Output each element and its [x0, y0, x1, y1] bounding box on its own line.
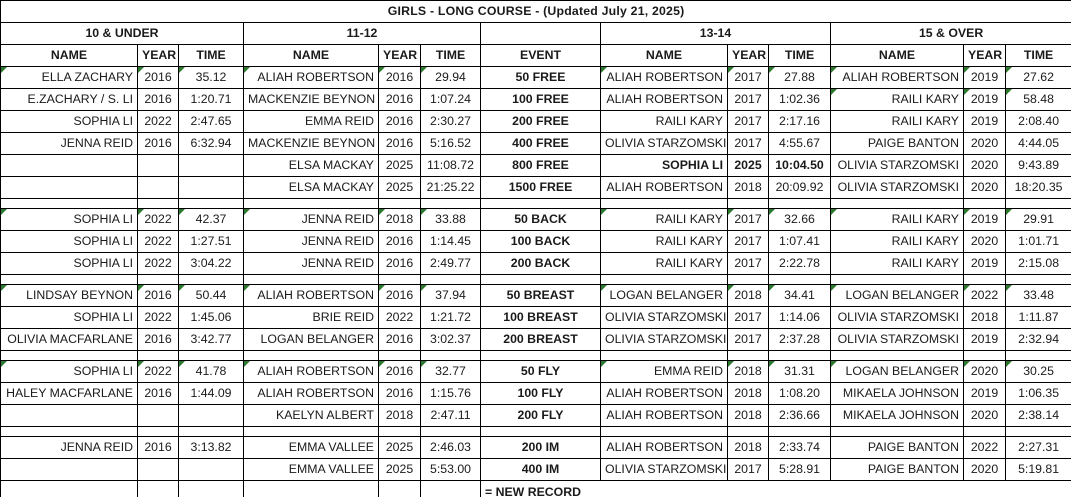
spacer-cell — [769, 275, 831, 285]
table-row: SOPHIA LI20222:47.65EMMA REID20162:30.27… — [1, 111, 1071, 133]
cell-year-a1112: 2016 — [379, 231, 421, 253]
spacer-cell — [138, 351, 179, 361]
cell-time-u10: 1:45.06 — [179, 307, 244, 329]
comment-indicator-icon — [421, 67, 427, 73]
table-row: ELLA ZACHARY201635.12ALIAH ROBERTSON2016… — [1, 67, 1071, 89]
cell-name-u10: LINDSAY BEYNON — [1, 285, 138, 307]
comment-indicator-icon — [138, 67, 144, 73]
legend-row: = NEW RECORD — [1, 481, 1071, 497]
cell-year-a1112: 2025 — [379, 437, 421, 459]
spacer-cell — [831, 199, 964, 209]
spacer-cell — [244, 351, 379, 361]
cell-year-a15: 2018 — [964, 307, 1006, 329]
spacer-cell — [1006, 199, 1071, 209]
cell-year-a15: 2020 — [964, 231, 1006, 253]
title-row: GIRLS - LONG COURSE - (Updated July 21, … — [1, 1, 1071, 23]
cell-year-a1112: 2016 — [379, 329, 421, 351]
cell-name-a1112: KAELYN ALBERT — [244, 405, 379, 427]
cell-year-u10: 2016 — [138, 89, 179, 111]
age-group-11-12: 11-12 — [244, 23, 481, 45]
comment-indicator-icon — [1, 285, 7, 291]
cell-year-a1112: 2016 — [379, 383, 421, 405]
cell-time-a1314: 32.66 — [769, 209, 831, 231]
cell-time-a1314: 2:37.28 — [769, 329, 831, 351]
comment-indicator-icon — [379, 67, 385, 73]
cell-event: 50 FREE — [481, 67, 601, 89]
spacer-cell — [138, 275, 179, 285]
cell-year-u10 — [138, 405, 179, 427]
cell-name-a1314: ALIAH ROBERTSON — [601, 437, 728, 459]
table-row: JENNA REID20166:32.94MACKENZIE BEYNON201… — [1, 133, 1071, 155]
table-row: EMMA VALLEE20255:53.00400 IMOLIVIA STARZ… — [1, 459, 1071, 481]
comment-indicator-icon — [244, 209, 250, 215]
cell-name-a15: RAILI KARY — [831, 209, 964, 231]
spacer-cell — [421, 275, 481, 285]
cell-year-a15: 2020 — [964, 459, 1006, 481]
cell-year-a1112: 2025 — [379, 155, 421, 177]
records-table: GIRLS - LONG COURSE - (Updated July 21, … — [0, 0, 1071, 497]
cell-name-a1314: ALIAH ROBERTSON — [601, 67, 728, 89]
cell-name-a15: PAIGE BANTON — [831, 459, 964, 481]
spacer-cell — [964, 199, 1006, 209]
spacer-cell — [728, 427, 769, 437]
cell-name-a15: RAILI KARY — [831, 253, 964, 275]
cell-year-u10: 2022 — [138, 111, 179, 133]
cell-event: 400 IM — [481, 459, 601, 481]
colhead-name-10u: NAME — [1, 45, 138, 67]
cell-year-a1112: 2022 — [379, 307, 421, 329]
table-row: SOPHIA LI202242.37JENNA REID201833.8850 … — [1, 209, 1071, 231]
spacer-cell — [379, 275, 421, 285]
spacer-cell — [138, 199, 179, 209]
cell-time-a1314: 34.41 — [769, 285, 831, 307]
cell-time-a1314: 4:55.67 — [769, 133, 831, 155]
cell-event: 50 BACK — [481, 209, 601, 231]
cell-year-a1112: 2016 — [379, 253, 421, 275]
cell-year-a15: 2019 — [964, 209, 1006, 231]
cell-name-u10: SOPHIA LI — [1, 361, 138, 383]
table-row: HALEY MACFARLANE20161:44.09ALIAH ROBERTS… — [1, 383, 1071, 405]
comment-indicator-icon — [179, 67, 185, 73]
cell-time-a1112: 21:25.22 — [421, 177, 481, 199]
cell-year-a15: 2019 — [964, 329, 1006, 351]
cell-year-a15: 2020 — [964, 133, 1006, 155]
cell-year-a15: 2022 — [964, 285, 1006, 307]
cell-time-a1314: 2:17.16 — [769, 111, 831, 133]
spacer-cell — [769, 199, 831, 209]
cell-name-a15: PAIGE BANTON — [831, 133, 964, 155]
cell-year-a1314: 2017 — [728, 231, 769, 253]
cell-year-a15: 2019 — [964, 111, 1006, 133]
colhead-time-1112: TIME — [421, 45, 481, 67]
colhead-name-1314: NAME — [601, 45, 728, 67]
comment-indicator-icon — [831, 67, 837, 73]
spacer-cell — [1, 275, 138, 285]
comment-indicator-icon — [964, 361, 970, 367]
spacer-cell — [964, 275, 1006, 285]
age-group-spacer — [481, 23, 601, 45]
cell-year-a1314: 2017 — [728, 133, 769, 155]
comment-indicator-icon — [601, 361, 607, 367]
cell-name-a1314: RAILI KARY — [601, 231, 728, 253]
cell-year-u10: 2016 — [138, 285, 179, 307]
spacer-cell — [179, 351, 244, 361]
cell-time-a1314: 27.88 — [769, 67, 831, 89]
cell-year-u10: 2016 — [138, 437, 179, 459]
cell-name-a15: MIKAELA JOHNSON — [831, 383, 964, 405]
comment-indicator-icon — [379, 209, 385, 215]
cell-year-a1314: 2018 — [728, 361, 769, 383]
cell-time-a1314: 1:02.36 — [769, 89, 831, 111]
spacer-cell — [964, 427, 1006, 437]
cell-time-a1112: 3:02.37 — [421, 329, 481, 351]
spacer-row — [1, 199, 1071, 209]
cell-time-u10: 3:42.77 — [179, 329, 244, 351]
cell-name-a1314: EMMA REID — [601, 361, 728, 383]
cell-name-a15: PAIGE BANTON — [831, 437, 964, 459]
cell-time-u10: 50.44 — [179, 285, 244, 307]
spacer-cell — [1006, 427, 1071, 437]
cell-name-a1314: ALIAH ROBERTSON — [601, 177, 728, 199]
colhead-year-1314: YEAR — [728, 45, 769, 67]
comment-indicator-icon — [601, 67, 607, 73]
legend-color-swatch — [421, 481, 481, 497]
cell-year-u10: 2022 — [138, 307, 179, 329]
spacer-cell — [728, 351, 769, 361]
cell-time-a15: 2:08.40 — [1006, 111, 1071, 133]
records-spreadsheet: GIRLS - LONG COURSE - (Updated July 21, … — [0, 0, 1071, 497]
comment-indicator-icon — [138, 285, 144, 291]
cell-name-a1112: EMMA VALLEE — [244, 437, 379, 459]
cell-time-a15: 2:38.14 — [1006, 405, 1071, 427]
cell-event: 100 FREE — [481, 89, 601, 111]
cell-time-a1314: 1:07.41 — [769, 231, 831, 253]
cell-time-a1112: 1:14.45 — [421, 231, 481, 253]
cell-time-u10 — [179, 459, 244, 481]
comment-indicator-icon — [728, 209, 734, 215]
cell-year-a1314: 2018 — [728, 177, 769, 199]
cell-time-u10: 1:44.09 — [179, 383, 244, 405]
comment-indicator-icon — [601, 285, 607, 291]
table-row: E.ZACHARY / S. LI20161:20.71MACKENZIE BE… — [1, 89, 1071, 111]
cell-name-u10 — [1, 177, 138, 199]
comment-indicator-icon — [769, 285, 775, 291]
cell-name-a1314: ALIAH ROBERTSON — [601, 383, 728, 405]
cell-name-a1314: LOGAN BELANGER — [601, 285, 728, 307]
cell-time-a1314: 2:22.78 — [769, 253, 831, 275]
cell-name-a15: RAILI KARY — [831, 111, 964, 133]
cell-year-a1112: 2016 — [379, 89, 421, 111]
comment-indicator-icon — [244, 285, 250, 291]
cell-name-a1314: OLIVIA STARZOMSKI — [601, 307, 728, 329]
cell-year-a15: 2020 — [964, 155, 1006, 177]
comment-indicator-icon — [421, 361, 427, 367]
cell-name-a1314: OLIVIA STARZOMSKI — [601, 459, 728, 481]
cell-time-a1112: 5:53.00 — [421, 459, 481, 481]
spacer-cell — [601, 351, 728, 361]
comment-indicator-icon — [421, 209, 427, 215]
cell-name-a15: ALIAH ROBERTSON — [831, 67, 964, 89]
cell-year-a1314: 2017 — [728, 209, 769, 231]
cell-year-a1314: 2018 — [728, 405, 769, 427]
cell-time-a15: 33.48 — [1006, 285, 1071, 307]
spacer-cell — [601, 427, 728, 437]
cell-time-a15: 30.25 — [1006, 361, 1071, 383]
spacer-cell — [244, 427, 379, 437]
cell-year-a1112: 2025 — [379, 177, 421, 199]
spacer-cell — [421, 427, 481, 437]
comment-indicator-icon — [1006, 209, 1012, 215]
cell-year-u10 — [138, 155, 179, 177]
spacer-cell — [1, 199, 138, 209]
spacer-cell — [769, 427, 831, 437]
comment-indicator-icon — [831, 285, 837, 291]
comment-indicator-icon — [769, 361, 775, 367]
spacer-cell — [421, 351, 481, 361]
cell-name-a1112: JENNA REID — [244, 209, 379, 231]
cell-time-a1112: 5:16.52 — [421, 133, 481, 155]
legend-pad-2 — [138, 481, 179, 497]
cell-year-a15: 2020 — [964, 361, 1006, 383]
cell-name-u10: SOPHIA LI — [1, 231, 138, 253]
cell-event: 200 FLY — [481, 405, 601, 427]
cell-year-u10: 2016 — [138, 133, 179, 155]
cell-name-a15: OLIVIA STARZOMSKI — [831, 307, 964, 329]
comment-indicator-icon — [179, 209, 185, 215]
page-title: GIRLS - LONG COURSE - (Updated July 21, … — [1, 1, 1071, 23]
spacer-cell — [831, 351, 964, 361]
colhead-time-15o: TIME — [1006, 45, 1071, 67]
comment-indicator-icon — [831, 89, 837, 95]
cell-name-u10: HALEY MACFARLANE — [1, 383, 138, 405]
spacer-cell — [601, 199, 728, 209]
cell-time-a15: 27.62 — [1006, 67, 1071, 89]
table-row: SOPHIA LI202241.78ALIAH ROBERTSON201632.… — [1, 361, 1071, 383]
cell-name-a1112: ALIAH ROBERTSON — [244, 67, 379, 89]
cell-time-u10: 35.12 — [179, 67, 244, 89]
table-row: SOPHIA LI20221:45.06BRIE REID20221:21.72… — [1, 307, 1071, 329]
age-group-15-and-over: 15 & OVER — [831, 23, 1071, 45]
cell-time-u10: 42.37 — [179, 209, 244, 231]
table-row: LINDSAY BEYNON201650.44ALIAH ROBERTSON20… — [1, 285, 1071, 307]
cell-time-a1314: 20:09.92 — [769, 177, 831, 199]
cell-time-a1314: 10:04.50 — [769, 155, 831, 177]
cell-time-u10: 1:27.51 — [179, 231, 244, 253]
comment-indicator-icon — [1, 209, 7, 215]
comment-indicator-icon — [769, 67, 775, 73]
cell-time-a1112: 32.77 — [421, 361, 481, 383]
spacer-cell — [1006, 351, 1071, 361]
spacer-row — [1, 427, 1071, 437]
cell-name-u10 — [1, 405, 138, 427]
cell-name-a1314: SOPHIA LI — [601, 155, 728, 177]
cell-name-u10: JENNA REID — [1, 133, 138, 155]
cell-event: 100 BREAST — [481, 307, 601, 329]
comment-indicator-icon — [964, 67, 970, 73]
spacer-cell — [179, 275, 244, 285]
cell-year-a1314: 2017 — [728, 89, 769, 111]
cell-year-a1314: 2018 — [728, 437, 769, 459]
cell-year-a1112: 2025 — [379, 459, 421, 481]
cell-time-a1112: 1:15.76 — [421, 383, 481, 405]
cell-year-u10: 2016 — [138, 67, 179, 89]
cell-time-a1112: 29.94 — [421, 67, 481, 89]
cell-time-a1112: 2:47.11 — [421, 405, 481, 427]
cell-time-u10: 41.78 — [179, 361, 244, 383]
colhead-name-15o: NAME — [831, 45, 964, 67]
spacer-cell — [831, 275, 964, 285]
spacer-cell — [481, 427, 601, 437]
cell-time-a1314: 1:08.20 — [769, 383, 831, 405]
comment-indicator-icon — [728, 285, 734, 291]
cell-name-a15: OLIVIA STARZOMSKI — [831, 177, 964, 199]
table-row: OLIVIA MACFARLANE20163:42.77LOGAN BELANG… — [1, 329, 1071, 351]
cell-year-a1112: 2018 — [379, 209, 421, 231]
cell-year-a15: 2020 — [964, 177, 1006, 199]
cell-name-a1314: OLIVIA STARZOMSKI — [601, 329, 728, 351]
cell-year-u10: 2016 — [138, 383, 179, 405]
cell-time-a15: 18:20.35 — [1006, 177, 1071, 199]
spacer-row — [1, 275, 1071, 285]
cell-year-a1314: 2017 — [728, 253, 769, 275]
cell-time-u10 — [179, 155, 244, 177]
legend-pad-5 — [379, 481, 421, 497]
cell-time-a15: 1:11.87 — [1006, 307, 1071, 329]
cell-name-a15: RAILI KARY — [831, 231, 964, 253]
cell-time-a15: 58.48 — [1006, 89, 1071, 111]
cell-year-a1112: 2016 — [379, 133, 421, 155]
cell-name-a1314: RAILI KARY — [601, 253, 728, 275]
cell-name-u10 — [1, 459, 138, 481]
cell-name-a1314: RAILI KARY — [601, 111, 728, 133]
cell-time-u10: 3:04.22 — [179, 253, 244, 275]
comment-indicator-icon — [138, 361, 144, 367]
comment-indicator-icon — [1006, 285, 1012, 291]
legend-pad-1 — [1, 481, 138, 497]
cell-time-a1314: 1:14.06 — [769, 307, 831, 329]
spacer-cell — [1, 427, 138, 437]
cell-name-a1112: ALIAH ROBERTSON — [244, 285, 379, 307]
spacer-cell — [769, 351, 831, 361]
comment-indicator-icon — [728, 67, 734, 73]
comment-indicator-icon — [1, 361, 7, 367]
age-group-10-and-under: 10 & UNDER — [1, 23, 244, 45]
cell-year-a1112: 2016 — [379, 285, 421, 307]
comment-indicator-icon — [964, 89, 970, 95]
colhead-name-1112: NAME — [244, 45, 379, 67]
cell-year-a1314: 2018 — [728, 383, 769, 405]
colhead-event: EVENT — [481, 45, 601, 67]
cell-time-a1314: 31.31 — [769, 361, 831, 383]
table-row: ELSA MACKAY202511:08.72800 FREESOPHIA LI… — [1, 155, 1071, 177]
cell-year-a1112: 2016 — [379, 67, 421, 89]
cell-year-a1314: 2017 — [728, 111, 769, 133]
spacer-cell — [831, 427, 964, 437]
cell-time-a1314: 2:33.74 — [769, 437, 831, 459]
spacer-cell — [1, 351, 138, 361]
comment-indicator-icon — [831, 361, 837, 367]
cell-name-a1112: JENNA REID — [244, 253, 379, 275]
legend-pad-3 — [179, 481, 244, 497]
cell-event: 800 FREE — [481, 155, 601, 177]
age-group-row: 10 & UNDER 11-12 13-14 15 & OVER — [1, 23, 1071, 45]
legend-label: = NEW RECORD — [481, 481, 1071, 497]
cell-event: 200 FREE — [481, 111, 601, 133]
cell-event: 200 BREAST — [481, 329, 601, 351]
spacer-cell — [379, 199, 421, 209]
cell-time-u10: 6:32.94 — [179, 133, 244, 155]
cell-name-a1314: ALIAH ROBERTSON — [601, 405, 728, 427]
comment-indicator-icon — [421, 285, 427, 291]
cell-name-u10: SOPHIA LI — [1, 253, 138, 275]
table-row: KAELYN ALBERT20182:47.11200 FLYALIAH ROB… — [1, 405, 1071, 427]
cell-time-a15: 2:15.08 — [1006, 253, 1071, 275]
cell-time-u10 — [179, 405, 244, 427]
cell-year-u10: 2022 — [138, 231, 179, 253]
cell-year-u10 — [138, 459, 179, 481]
cell-time-a15: 1:06.35 — [1006, 383, 1071, 405]
cell-year-a1314: 2017 — [728, 67, 769, 89]
cell-year-a15: 2019 — [964, 383, 1006, 405]
spacer-cell — [964, 351, 1006, 361]
column-header-row: NAME YEAR TIME NAME YEAR TIME EVENT NAME… — [1, 45, 1071, 67]
cell-name-a1112: ELSA MACKAY — [244, 177, 379, 199]
cell-name-a1314: OLIVIA STARZOMSKI — [601, 133, 728, 155]
comment-indicator-icon — [728, 361, 734, 367]
table-row: JENNA REID20163:13.82EMMA VALLEE20252:46… — [1, 437, 1071, 459]
spacer-cell — [481, 275, 601, 285]
cell-time-u10: 1:20.71 — [179, 89, 244, 111]
cell-time-a1314: 5:28.91 — [769, 459, 831, 481]
cell-year-a1314: 2017 — [728, 329, 769, 351]
cell-time-a1112: 1:21.72 — [421, 307, 481, 329]
cell-name-a1112: BRIE REID — [244, 307, 379, 329]
comment-indicator-icon — [1006, 361, 1012, 367]
cell-name-u10: SOPHIA LI — [1, 307, 138, 329]
cell-year-a15: 2019 — [964, 89, 1006, 111]
cell-name-a15: LOGAN BELANGER — [831, 285, 964, 307]
cell-time-a15: 9:43.89 — [1006, 155, 1071, 177]
spacer-cell — [244, 199, 379, 209]
cell-time-u10: 2:47.65 — [179, 111, 244, 133]
cell-name-a15: OLIVIA STARZOMSKI — [831, 155, 964, 177]
cell-name-a1112: MACKENZIE BEYNON — [244, 89, 379, 111]
spacer-cell — [601, 275, 728, 285]
cell-time-a1112: 33.88 — [421, 209, 481, 231]
spacer-cell — [244, 275, 379, 285]
cell-year-u10 — [138, 177, 179, 199]
spacer-cell — [179, 199, 244, 209]
cell-name-u10: ELLA ZACHARY — [1, 67, 138, 89]
cell-year-a1314: 2018 — [728, 285, 769, 307]
cell-event: 1500 FREE — [481, 177, 601, 199]
comment-indicator-icon — [769, 209, 775, 215]
cell-name-u10: SOPHIA LI — [1, 209, 138, 231]
cell-year-u10: 2022 — [138, 361, 179, 383]
colhead-year-1112: YEAR — [379, 45, 421, 67]
cell-event: 50 BREAST — [481, 285, 601, 307]
cell-year-a1314: 2017 — [728, 459, 769, 481]
legend-pad-4 — [244, 481, 379, 497]
cell-name-a1112: EMMA VALLEE — [244, 459, 379, 481]
cell-year-a1314: 2025 — [728, 155, 769, 177]
colhead-year-15o: YEAR — [964, 45, 1006, 67]
colhead-time-10u: TIME — [179, 45, 244, 67]
cell-name-a1112: ALIAH ROBERTSON — [244, 361, 379, 383]
cell-year-u10: 2016 — [138, 329, 179, 351]
cell-time-a1112: 2:49.77 — [421, 253, 481, 275]
cell-year-a1112: 2016 — [379, 111, 421, 133]
